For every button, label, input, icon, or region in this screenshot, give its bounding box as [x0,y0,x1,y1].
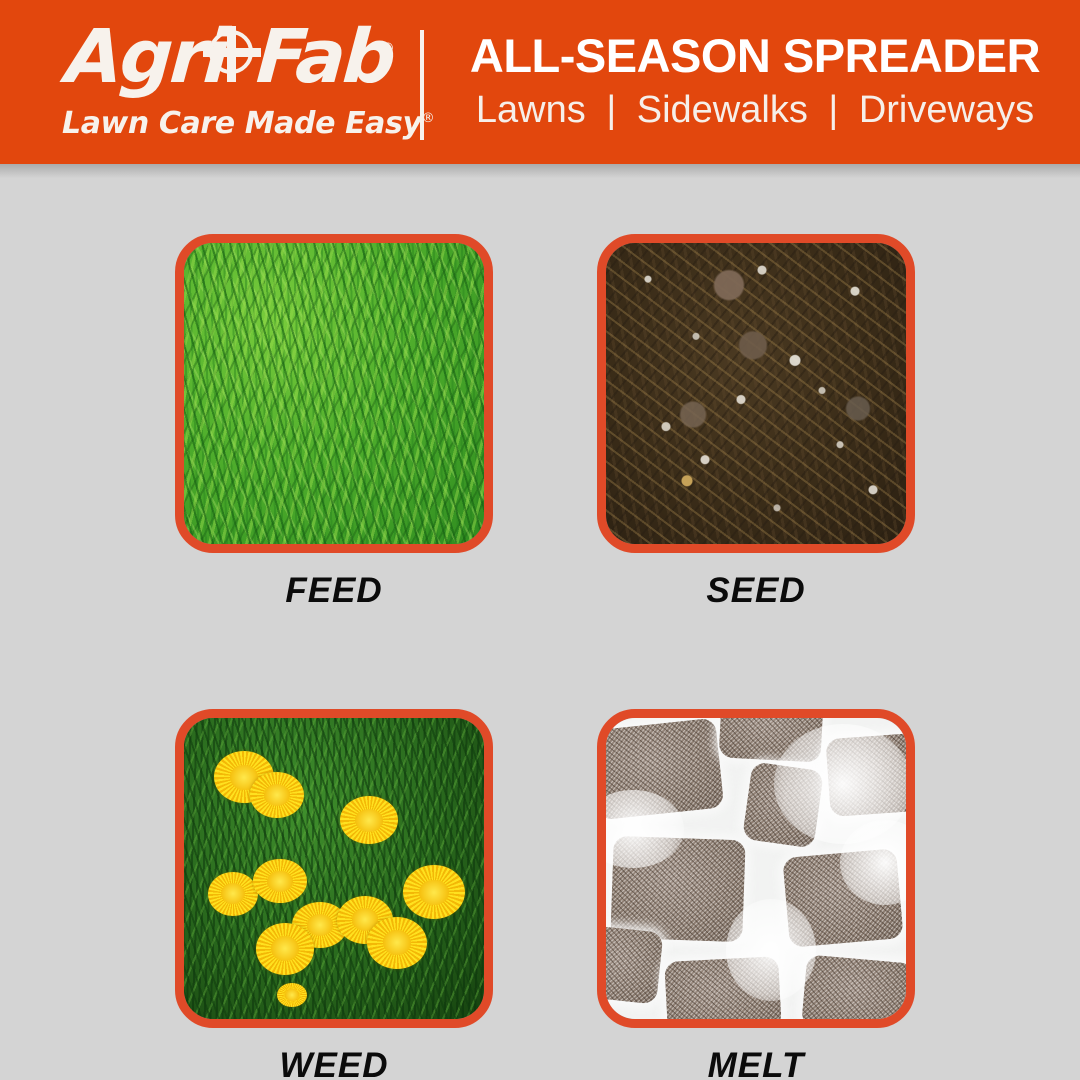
tile-cell-melt: MELT [597,709,915,1080]
subtitle-item-sidewalks: Sidewalks [637,89,808,131]
tile-label-melt: MELT [597,1046,915,1080]
tile-label-feed: FEED [175,571,493,611]
product-subtitle: Lawns | Sidewalks | Driveways [455,86,1055,134]
product-feature-graphic: Agri Fab ® Lawn Care Made Easy® ALL-SEAS… [0,0,1080,1080]
tile-cell-weed: WEED [175,709,493,1080]
snow-on-pavers-photo [606,718,906,1019]
tile-cell-feed: FEED [175,234,493,611]
brand-tagline: Lawn Care Made Easy® [62,106,434,141]
brand-logo: Agri Fab ® Lawn Care Made Easy® [52,18,402,148]
brand-wordmark: Agri Fab ® [52,18,402,96]
subtitle-separator-1: | [606,86,616,134]
subtitle-separator-2: | [828,86,838,134]
brand-word-fab: Fab [254,18,395,96]
tile-row-bottom: WEED [175,709,915,1080]
tile-label-weed: WEED [175,1046,493,1080]
product-title: ALL-SEASON SPREADER [455,28,1055,83]
brand-registered-mark: ® [382,40,393,57]
dandelion-weeds-photo [184,718,484,1019]
feature-tile-grid: FEED SEED [175,234,915,1080]
header-drop-shadow [0,164,1080,178]
subtitle-item-driveways: Driveways [859,89,1034,131]
tile-image-weed [175,709,493,1028]
vertical-divider-icon [420,30,424,140]
tile-label-seed: SEED [597,571,915,611]
tile-image-feed [175,234,493,553]
brand-word-agri: Agri [63,18,229,96]
brand-tagline-text: Lawn Care Made Easy [62,106,422,141]
header-banner: Agri Fab ® Lawn Care Made Easy® ALL-SEAS… [0,0,1080,164]
header-text-group: ALL-SEASON SPREADER Lawns | Sidewalks | … [455,28,1055,134]
green-grass-photo [184,243,484,544]
tile-row-top: FEED SEED [175,234,915,611]
subtitle-item-lawns: Lawns [476,89,586,131]
tile-image-melt [597,709,915,1028]
circle-cross-emblem-icon [209,30,259,80]
tile-image-seed [597,234,915,553]
tile-cell-seed: SEED [597,234,915,611]
emblem-bar-vertical [227,26,236,82]
dark-soil-photo [606,243,906,544]
